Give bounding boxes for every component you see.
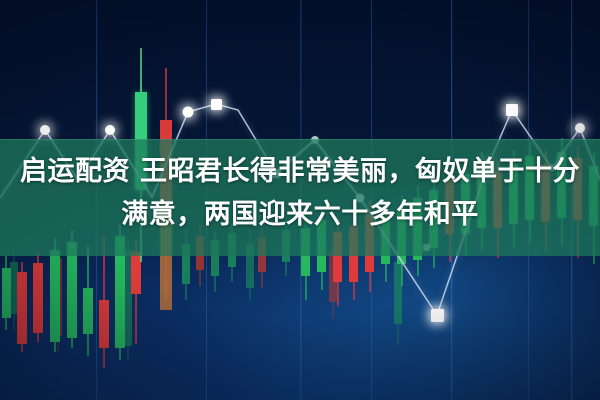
page-title: 启运配资 王昭君长得非常美丽，匈奴单于十分满意，两国迎来六十多年和平 — [0, 150, 600, 236]
band-top-divider — [0, 139, 600, 140]
banner-image: 启运配资 王昭君长得非常美丽，匈奴单于十分满意，两国迎来六十多年和平 — [0, 0, 600, 400]
